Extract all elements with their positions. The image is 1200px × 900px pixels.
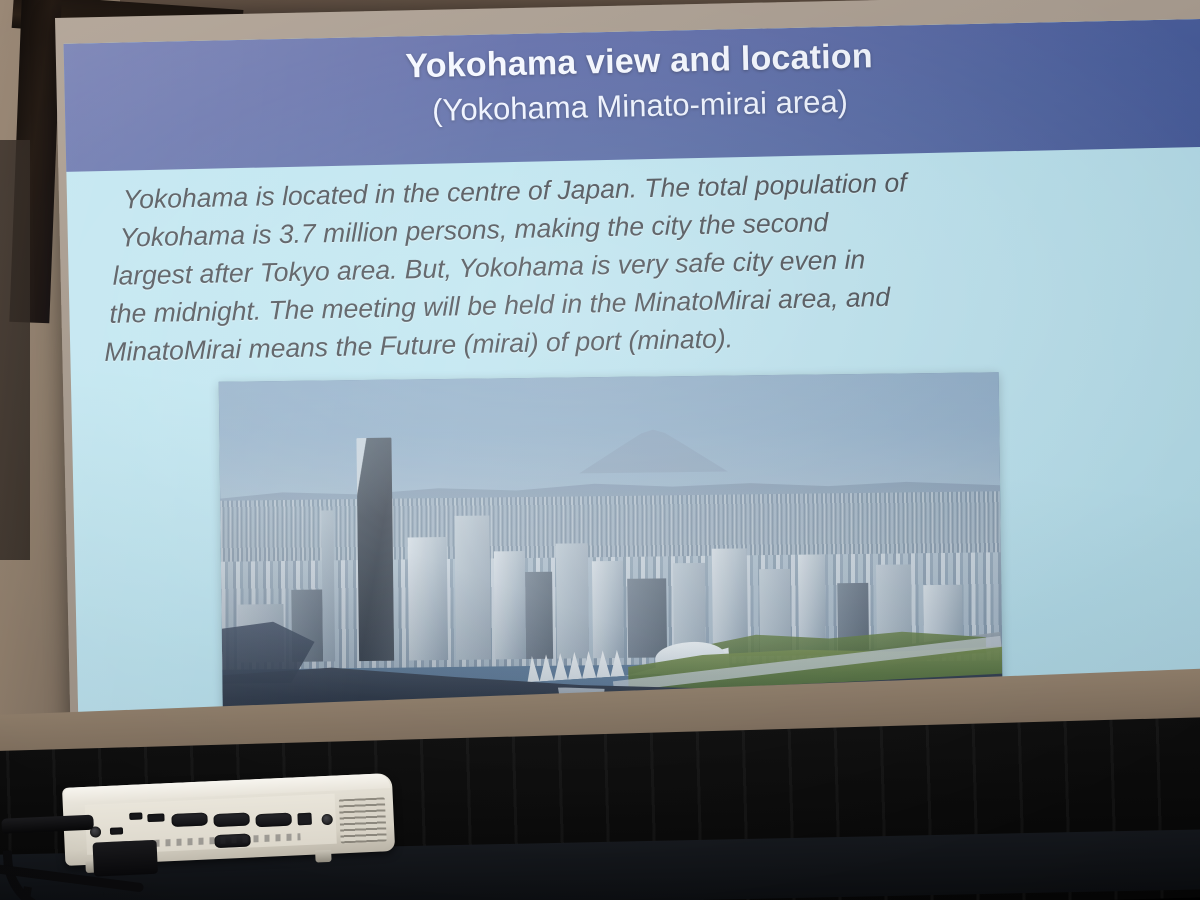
building xyxy=(494,551,527,659)
room-scene: Yokohama view and location (Yokohama Min… xyxy=(0,0,1200,900)
projection-screen: Yokohama view and location (Yokohama Min… xyxy=(55,0,1200,778)
building xyxy=(454,515,491,659)
slide-header-band: Yokohama view and location (Yokohama Min… xyxy=(64,19,1200,172)
landmark-tower xyxy=(356,437,395,661)
projector xyxy=(62,773,396,874)
building xyxy=(556,543,589,659)
building xyxy=(627,578,667,658)
slide-body-text: Yokohama is located in the centre of Jap… xyxy=(101,157,1185,371)
hdmi-port xyxy=(147,813,164,822)
usb-b-port xyxy=(110,827,123,835)
projector-vent-grille xyxy=(339,797,387,843)
usb-a-port xyxy=(129,812,142,820)
projector-foot xyxy=(315,850,332,863)
wall-edge-shadow xyxy=(0,140,30,560)
building xyxy=(408,537,448,660)
vga-out-port xyxy=(255,813,292,828)
building xyxy=(525,572,553,659)
vga-in-port xyxy=(171,812,208,827)
vga-in-2-port xyxy=(213,813,250,828)
secondary-tower xyxy=(321,510,335,661)
dc-power-port xyxy=(321,814,332,825)
building xyxy=(591,560,623,658)
rj45-lan-port xyxy=(297,813,312,826)
presentation-slide: Yokohama view and location (Yokohama Min… xyxy=(64,19,1200,750)
